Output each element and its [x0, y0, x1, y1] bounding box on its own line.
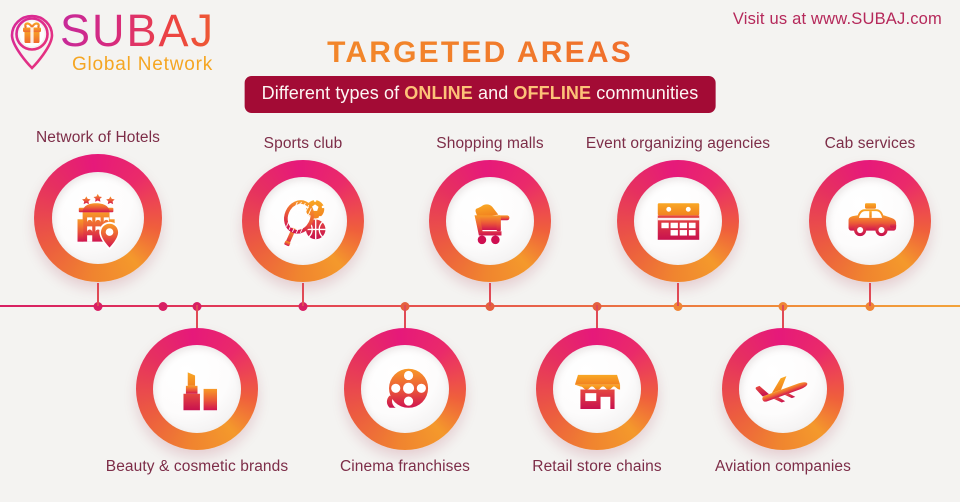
node-stem	[489, 283, 491, 306]
node-label: Network of Hotels	[36, 129, 160, 147]
node-label: Aviation companies	[715, 458, 851, 476]
category-node[interactable]	[809, 160, 931, 282]
sports-icon	[242, 160, 364, 282]
node-stem	[869, 283, 871, 306]
banner-prefix: Different types of	[262, 83, 405, 103]
category-node[interactable]	[344, 328, 466, 450]
node-stem	[596, 305, 598, 328]
banner-suffix: communities	[591, 83, 698, 103]
infographic-canvas: SUBAJ Global Network Visit us at www.SUB…	[0, 0, 960, 502]
node-label: Event organizing agencies	[586, 135, 770, 153]
timeline-dot	[159, 302, 168, 311]
taxi-icon	[809, 160, 931, 282]
node-stem	[404, 305, 406, 328]
visit-url[interactable]: Visit us at www.SUBAJ.com	[733, 10, 942, 29]
node-label: Shopping malls	[436, 135, 543, 153]
node-stem	[196, 305, 198, 328]
node-stem	[302, 283, 304, 306]
node-stem	[97, 283, 99, 306]
node-label: Sports club	[264, 135, 343, 153]
node-stem	[677, 283, 679, 306]
film-reel-icon	[344, 328, 466, 450]
airplane-icon	[722, 328, 844, 450]
node-stem	[782, 305, 784, 328]
category-node[interactable]	[536, 328, 658, 450]
calendar-icon	[617, 160, 739, 282]
banner-middle: and	[473, 83, 514, 103]
page-title: TARGETED AREAS	[0, 36, 960, 70]
category-node[interactable]	[617, 160, 739, 282]
category-node[interactable]	[242, 160, 364, 282]
cart-icon	[429, 160, 551, 282]
node-label: Cinema franchises	[340, 458, 470, 476]
banner-highlight-online: ONLINE	[404, 83, 473, 103]
node-label: Cab services	[825, 135, 916, 153]
hotel-icon	[34, 154, 162, 282]
node-label: Retail store chains	[532, 458, 661, 476]
category-node[interactable]	[722, 328, 844, 450]
category-node[interactable]	[34, 154, 162, 282]
lipstick-icon	[136, 328, 258, 450]
category-node[interactable]	[429, 160, 551, 282]
category-node[interactable]	[136, 328, 258, 450]
subtitle-banner: Different types of ONLINE and OFFLINE co…	[245, 76, 716, 113]
node-label: Beauty & cosmetic brands	[106, 458, 288, 476]
timeline-axis	[0, 305, 960, 307]
storefront-icon	[536, 328, 658, 450]
banner-highlight-offline: OFFLINE	[513, 83, 591, 103]
